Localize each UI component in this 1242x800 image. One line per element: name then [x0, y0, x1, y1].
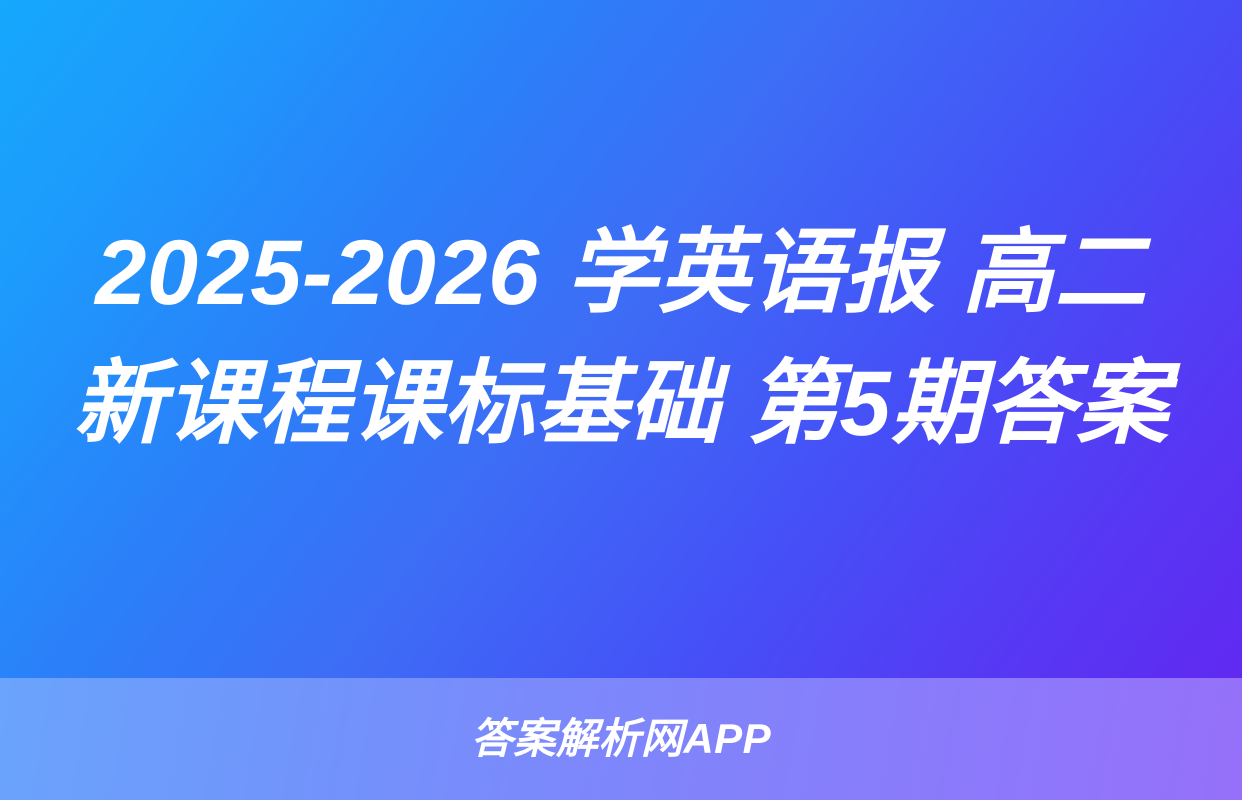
hero-panel: 2025-2026 学英语报 高二 新课程课标基础 第5期答案: [0, 0, 1242, 678]
page-title: 2025-2026 学英语报 高二 新课程课标基础 第5期答案: [71, 208, 1171, 469]
app-watermark-label: 答案解析网APP: [471, 718, 771, 760]
promo-cover-card: 2025-2026 学英语报 高二 新课程课标基础 第5期答案 答案解析网APP: [0, 0, 1242, 800]
footer-watermark-banner: 答案解析网APP: [0, 678, 1242, 800]
